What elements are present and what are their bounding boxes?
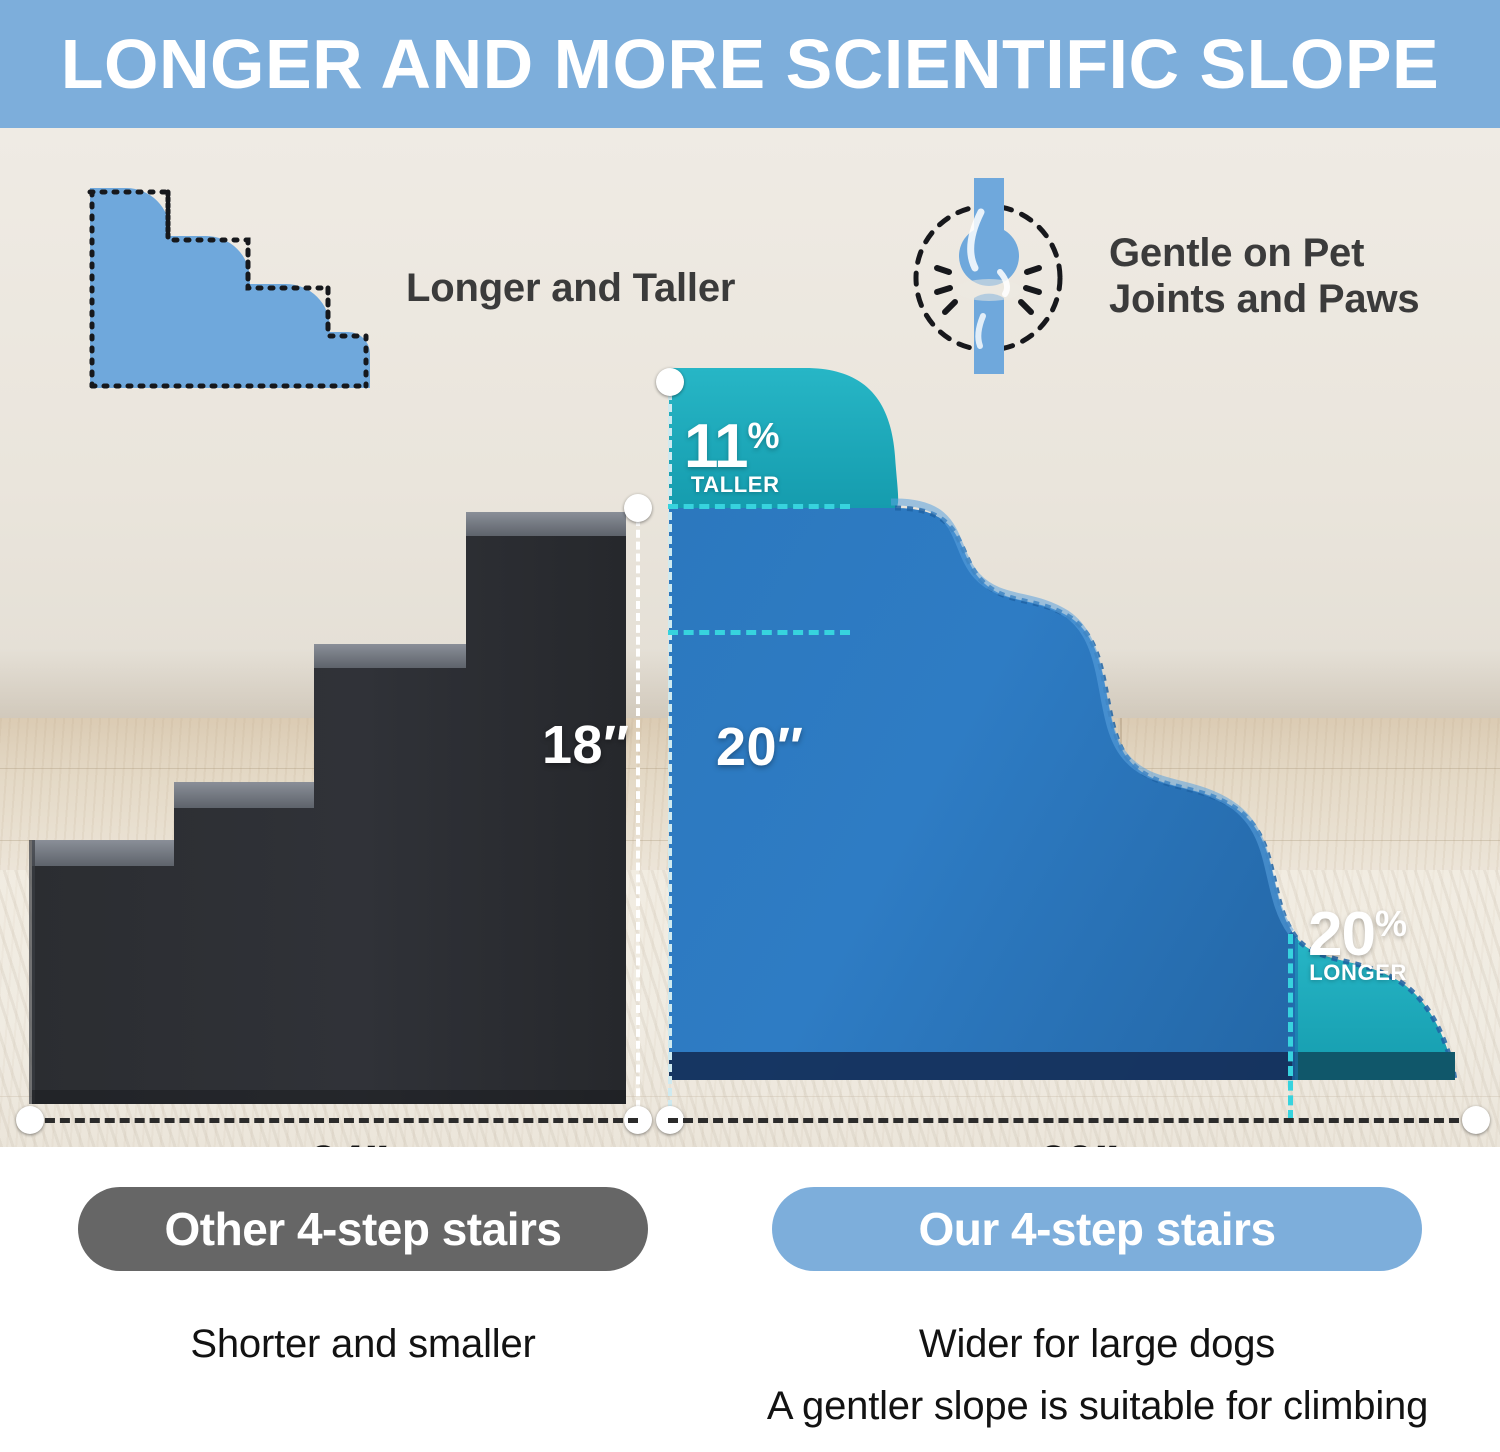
our-stairs-shape: [655, 368, 1485, 1126]
pill-our-stairs: Our 4-step stairs: [772, 1187, 1422, 1271]
caption-our-stairs-line1: Wider for large dogs: [722, 1317, 1472, 1371]
caption-our-stairs-line2: A gentler slope is suitable for climbing: [700, 1379, 1495, 1433]
header-banner: LONGER AND MORE SCIENTIFIC SLOPE: [0, 0, 1500, 128]
feature-label-gentle-on-joints: Gentle on Pet Joints and Paws: [1109, 230, 1419, 322]
our-stairs-product: [655, 368, 1485, 1126]
bottom-comparison-section: Other 4-step stairs Our 4-step stairs Sh…: [0, 1147, 1500, 1452]
pill-other-stairs: Other 4-step stairs: [78, 1187, 648, 1271]
feature-label-line1: Gentle on Pet: [1109, 231, 1364, 275]
product-comparison-photo: Longer and Taller Gentle on Pet Joints a…: [0, 128, 1500, 1147]
competitor-stairs-product: [14, 492, 644, 1124]
feature-longer-and-taller: Longer and Taller: [80, 178, 735, 398]
feature-gentle-on-joints: Gentle on Pet Joints and Paws: [905, 176, 1419, 376]
page-title: LONGER AND MORE SCIENTIFIC SLOPE: [43, 29, 1457, 99]
competitor-stairs-shape: [14, 492, 644, 1124]
pet-joint-bone-icon: [905, 176, 1075, 376]
caption-other-stairs: Shorter and smaller: [78, 1317, 648, 1371]
stepped-stairs-icon: [80, 178, 370, 398]
feature-label-longer-and-taller: Longer and Taller: [406, 265, 735, 311]
feature-label-line2: Joints and Paws: [1109, 277, 1419, 321]
